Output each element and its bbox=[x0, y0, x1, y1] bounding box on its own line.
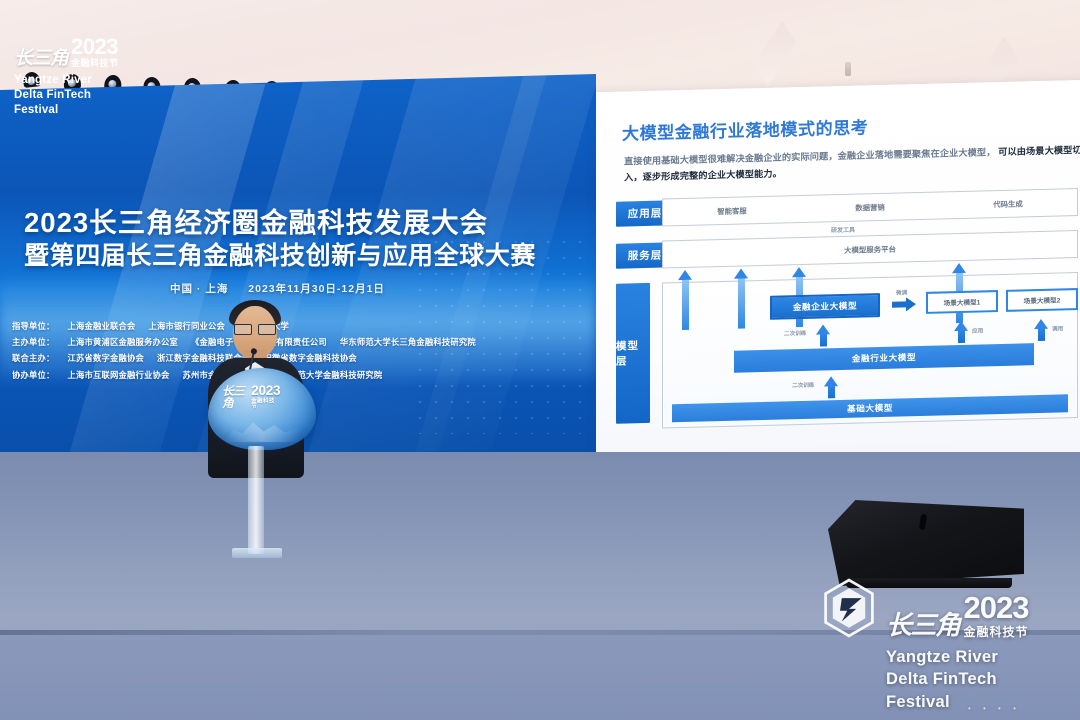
sponsor-org: 江苏省数字金融协会 bbox=[68, 353, 144, 363]
podium-foot bbox=[232, 548, 282, 558]
architecture-diagram: 应用层 智能客服 数据营销 代码生成 研发工具 服务层 大模型服务平台 模型层 bbox=[616, 188, 1078, 430]
hexagon-brand-icon bbox=[822, 578, 876, 638]
sponsor-org: 上海金融业联合会 bbox=[68, 321, 136, 331]
arrow-up-tall bbox=[678, 270, 693, 330]
podium-logo-year: 2023 bbox=[251, 384, 280, 398]
event-logo-mark-cn: 长三角 bbox=[14, 48, 68, 69]
slide-lead-normal: 直接使用基础大模型很难解决金融企业的实际问题，金融企业落地需要聚焦在企业大模型， bbox=[624, 147, 996, 166]
sponsor-label: 协办单位： bbox=[12, 370, 55, 380]
app-sub-item-label: 研发工具 bbox=[831, 225, 855, 235]
wall-diamond-panel bbox=[753, 21, 796, 88]
watermark-logo: 长三角 2023 金融科技节 Yangtze River Delta FinTe… bbox=[818, 578, 1080, 714]
arrow-up-scene-1 bbox=[954, 321, 969, 343]
layer-tag-model: 模型层 bbox=[616, 283, 650, 424]
presentation-slide: 大模型金融行业落地模式的思考 直接使用基础大模型很难解决金融企业的实际问题，金融… bbox=[596, 80, 1080, 474]
app-item-2: 代码生成 bbox=[993, 198, 1023, 210]
arrow-label-secondary-train-1: 二次训练 bbox=[784, 329, 806, 338]
sponsor-org: 上海市黄浦区金融服务办公室 bbox=[68, 337, 178, 347]
sponsor-org: 华东师范大学长三角金融科技研究院 bbox=[340, 337, 476, 347]
box-enterprise-model: 金融企业大模型 bbox=[770, 293, 880, 320]
podium-skyline-graphic bbox=[224, 414, 300, 442]
sprinkler-head-icon bbox=[845, 62, 851, 76]
sponsor-org: 上海市互联网金融行业协会 bbox=[68, 370, 170, 380]
arrow-right-finetune bbox=[892, 297, 916, 312]
arrow-label-finetune: 微调 bbox=[896, 288, 907, 296]
watermark-year: 2023 bbox=[964, 592, 1029, 623]
stage-monitor-speaker bbox=[828, 500, 1024, 586]
event-logo: 长三角 2023 金融科技节 Yangtze River Delta FinTe… bbox=[14, 36, 119, 119]
podium-logo-mark-cn: 长三角 bbox=[222, 386, 249, 410]
sponsor-label: 指导单位： bbox=[12, 321, 55, 331]
event-logo-subtitle-cn: 金融科技节 bbox=[71, 59, 119, 68]
slide-lead-text: 直接使用基础大模型很难解决金融企业的实际问题，金融企业落地需要聚焦在企业大模型，… bbox=[624, 142, 1080, 186]
watermark-en-line1: Yangtze River bbox=[886, 646, 1029, 668]
watermark-subtitle-cn: 金融科技节 bbox=[964, 626, 1029, 638]
arrow-up-scene-2 bbox=[1034, 319, 1049, 341]
arrow-label-apply-b: 调用 bbox=[1052, 324, 1063, 332]
app-item-1: 数据营销 bbox=[855, 201, 885, 213]
arrow-label-apply-a: 应用 bbox=[972, 326, 983, 334]
event-logo-en-line2: Delta FinTech bbox=[14, 88, 119, 103]
glasses-icon bbox=[234, 324, 276, 333]
podium-logo-subtitle-cn: 金融科技节 bbox=[251, 398, 280, 409]
event-logo-year: 2023 bbox=[71, 36, 119, 58]
watermark-dots: • • • • bbox=[968, 704, 1021, 713]
conference-meta: 中国 · 上海 2023年11月30日-12月1日 bbox=[170, 281, 385, 296]
watermark-text-logo: 长三角 2023 金融科技节 Yangtze River Delta FinTe… bbox=[886, 592, 1029, 713]
podium-stem bbox=[248, 446, 264, 554]
conference-stage-photo: 长三角 2023 金融科技节 Yangtze River Delta FinTe… bbox=[0, 0, 1080, 720]
watermark-en-line2: Delta FinTech bbox=[886, 668, 1029, 690]
conference-dates: 2023年11月30日-12月1日 bbox=[248, 283, 385, 295]
slide-title: 大模型金融行业落地模式的思考 bbox=[622, 108, 1080, 145]
service-layer-band: 大模型服务平台 bbox=[662, 230, 1078, 269]
conference-title-line2: 暨第四届长三角金融科技创新与应用全球大赛 bbox=[24, 240, 536, 272]
sponsor-label: 主办单位： bbox=[12, 337, 55, 347]
sponsor-label: 联合主办： bbox=[12, 353, 55, 363]
event-logo-en-line3: Festival bbox=[14, 103, 119, 118]
conference-title: 2023长三角经济圈金融科技发展大会 暨第四届长三角金融科技创新与应用全球大赛 bbox=[24, 205, 536, 272]
app-item-0: 智能客服 bbox=[717, 205, 747, 217]
box-scene-model-1: 场景大模型1 bbox=[926, 290, 998, 314]
monitor-handle-slot bbox=[919, 514, 927, 531]
event-logo-en-line1: Yangtze River bbox=[14, 73, 119, 88]
watermark-mark-cn: 长三角 bbox=[886, 612, 960, 638]
arrow-up-tall bbox=[734, 268, 749, 328]
projection-screen: 大模型金融行业落地模式的思考 直接使用基础大模型很难解决金融企业的实际问题，金融… bbox=[596, 80, 1080, 474]
conference-title-line1: 2023长三角经济圈金融科技发展大会 bbox=[24, 205, 536, 240]
arrow-up-enterprise bbox=[816, 324, 831, 346]
conference-location: 中国 · 上海 bbox=[170, 283, 228, 295]
arrow-label-secondary-train-2: 二次训练 bbox=[792, 381, 814, 390]
application-layer-band: 智能客服 数据营销 代码生成 bbox=[662, 188, 1078, 227]
box-scene-model-2: 场景大模型2 bbox=[1006, 288, 1078, 312]
podium-logo: 长三角 2023 金融科技节 bbox=[222, 384, 280, 409]
arrow-up-industry bbox=[824, 376, 839, 398]
service-platform-label: 大模型服务平台 bbox=[844, 243, 896, 255]
